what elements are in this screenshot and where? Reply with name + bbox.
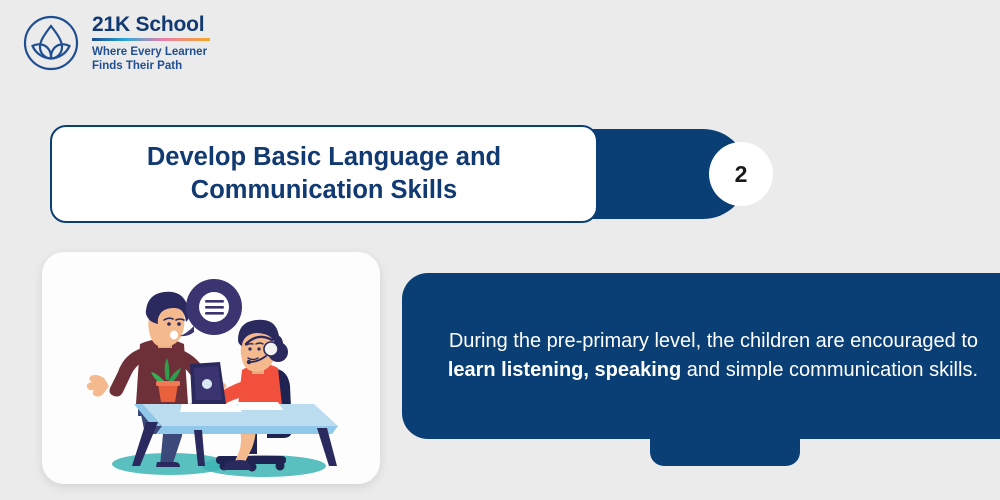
body-text-suffix: and simple communication skills. [681,359,978,381]
brand-tagline-line1: Where Every Learner [92,46,207,58]
brand-gradient-rule [92,38,210,41]
page-title-line2: Communication Skills [191,176,457,204]
brand-name: 21K School [92,14,210,35]
brand-logo-text: 21K School Where Every Learner Finds The… [92,14,210,73]
body-panel: During the pre-primary level, the childr… [402,273,1000,439]
body-text-highlight: learn listening, speaking [448,359,681,381]
step-number-value: 2 [735,161,748,188]
brand-tagline-line2: Finds Their Path [92,60,182,72]
brand-tagline: Where Every Learner Finds Their Path [92,45,210,73]
body-text-prefix: During the pre-primary level, the childr… [449,330,978,352]
page-title: Develop Basic Language and Communication… [147,141,501,207]
brand-logo[interactable]: 21K School Where Every Learner Finds The… [22,14,210,73]
lotus-circle-icon [22,14,80,72]
step-number-badge: 2 [709,142,773,206]
illustration-card [42,252,380,484]
header-title-card: Develop Basic Language and Communication… [50,125,598,223]
two-people-communication-illustration [42,252,380,484]
body-description: During the pre-primary level, the childr… [426,327,978,385]
page-title-line1: Develop Basic Language and [147,143,501,171]
slide-canvas: 21K School Where Every Learner Finds The… [0,0,1000,500]
